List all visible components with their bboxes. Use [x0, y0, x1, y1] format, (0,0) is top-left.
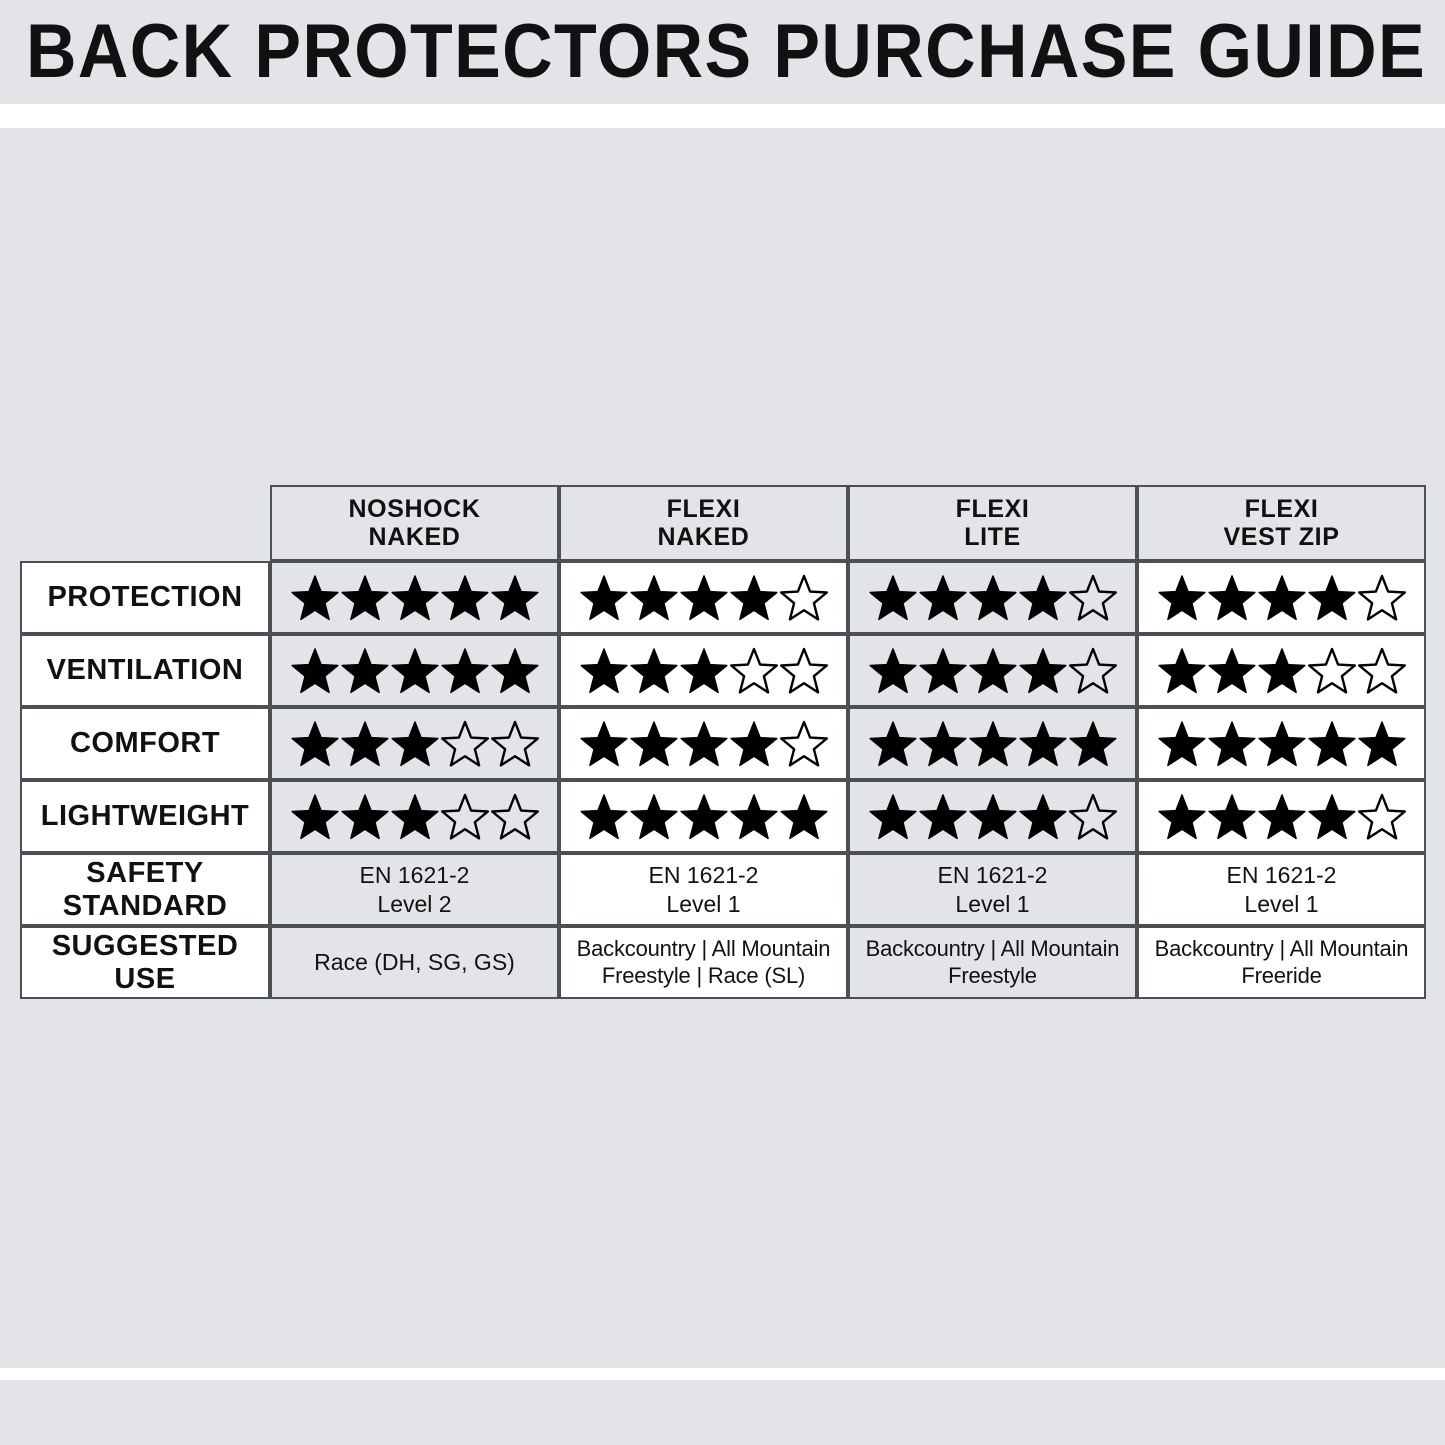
- star-empty-icon: [1308, 647, 1356, 694]
- star-filled-icon: [580, 647, 628, 694]
- cell-text: EN 1621-2Level 1: [1139, 857, 1424, 921]
- cell-safety-standard-flexi-vest-zip: EN 1621-2Level 1: [1137, 853, 1426, 926]
- table-row: SAFETY STANDARDEN 1621-2Level 2EN 1621-2…: [20, 853, 1426, 926]
- column-header-noshock-naked: NOSHOCK NAKED: [270, 485, 559, 561]
- star-filled-icon: [1208, 574, 1256, 621]
- cell-text-line2: Freestyle: [856, 963, 1129, 990]
- star-filled-icon: [341, 574, 389, 621]
- star-empty-icon: [1358, 647, 1406, 694]
- cell-text: Race (DH, SG, GS): [272, 944, 557, 980]
- back-protectors-comparison-table: NOSHOCK NAKED FLEXI NAKED FLEXI LITE FLE…: [20, 485, 1426, 999]
- star-filled-icon: [630, 647, 678, 694]
- cell-text-line2: Level 1: [567, 890, 840, 918]
- star-rating: [850, 574, 1135, 621]
- cell-text-line2: Level 1: [1145, 890, 1418, 918]
- cell-text-line1: Backcountry | All Mountain: [1145, 936, 1418, 963]
- star-filled-icon: [969, 574, 1017, 621]
- star-empty-icon: [780, 574, 828, 621]
- table-row: VENTILATION: [20, 634, 1426, 707]
- star-filled-icon: [730, 793, 778, 840]
- star-filled-icon: [1208, 647, 1256, 694]
- star-filled-icon: [580, 720, 628, 767]
- cell-suggested-use-flexi-lite: Backcountry | All MountainFreestyle: [848, 926, 1137, 999]
- star-rating: [850, 720, 1135, 767]
- star-filled-icon: [680, 720, 728, 767]
- star-filled-icon: [780, 793, 828, 840]
- cell-text: EN 1621-2Level 1: [561, 857, 846, 921]
- star-empty-icon: [780, 720, 828, 767]
- star-empty-icon: [1358, 574, 1406, 621]
- cell-protection-noshock-naked: [270, 561, 559, 634]
- star-filled-icon: [1258, 793, 1306, 840]
- star-filled-icon: [341, 647, 389, 694]
- cell-protection-flexi-lite: [848, 561, 1137, 634]
- star-filled-icon: [630, 720, 678, 767]
- page-title: BACK PROTECTORS PURCHASE GUIDE: [26, 14, 1426, 90]
- table-corner-blank: [20, 485, 270, 561]
- star-filled-icon: [1019, 574, 1067, 621]
- star-filled-icon: [1258, 720, 1306, 767]
- star-filled-icon: [680, 793, 728, 840]
- star-filled-icon: [1258, 574, 1306, 621]
- cell-suggested-use-noshock-naked: Race (DH, SG, GS): [270, 926, 559, 999]
- cell-text-line2: Freestyle | Race (SL): [567, 963, 840, 990]
- star-filled-icon: [969, 793, 1017, 840]
- row-label-lightweight: LIGHTWEIGHT: [20, 780, 270, 853]
- star-filled-icon: [680, 574, 728, 621]
- star-rating: [1139, 720, 1424, 767]
- star-rating: [561, 574, 846, 621]
- column-header-line1: FLEXI: [1139, 495, 1424, 523]
- cell-text-line1: EN 1621-2: [856, 861, 1129, 889]
- star-empty-icon: [1069, 647, 1117, 694]
- star-filled-icon: [1308, 574, 1356, 621]
- cell-text-line1: Race (DH, SG, GS): [278, 948, 551, 976]
- cell-lightweight-flexi-vest-zip: [1137, 780, 1426, 853]
- star-filled-icon: [730, 720, 778, 767]
- cell-text-line2: Level 2: [278, 890, 551, 918]
- star-filled-icon: [919, 793, 967, 840]
- star-filled-icon: [869, 720, 917, 767]
- star-empty-icon: [1069, 793, 1117, 840]
- star-filled-icon: [1158, 720, 1206, 767]
- star-filled-icon: [341, 720, 389, 767]
- star-filled-icon: [291, 720, 339, 767]
- star-filled-icon: [491, 647, 539, 694]
- star-filled-icon: [969, 720, 1017, 767]
- star-rating: [272, 647, 557, 694]
- cell-comfort-flexi-naked: [559, 707, 848, 780]
- decorative-band-bottom: [0, 1368, 1445, 1380]
- cell-ventilation-flexi-naked: [559, 634, 848, 707]
- column-header-line2: LITE: [850, 523, 1135, 551]
- cell-text: Backcountry | All MountainFreeride: [1139, 932, 1424, 994]
- table-row: PROTECTION: [20, 561, 1426, 634]
- star-rating: [561, 720, 846, 767]
- cell-text: EN 1621-2Level 1: [850, 857, 1135, 921]
- cell-text-line1: EN 1621-2: [567, 861, 840, 889]
- star-rating: [272, 720, 557, 767]
- cell-text: EN 1621-2Level 2: [272, 857, 557, 921]
- star-filled-icon: [1158, 647, 1206, 694]
- cell-safety-standard-flexi-naked: EN 1621-2Level 1: [559, 853, 848, 926]
- cell-ventilation-flexi-lite: [848, 634, 1137, 707]
- star-rating: [1139, 574, 1424, 621]
- table-row: SUGGESTED USERace (DH, SG, GS)Backcountr…: [20, 926, 1426, 999]
- star-empty-icon: [730, 647, 778, 694]
- table-row: COMFORT: [20, 707, 1426, 780]
- star-filled-icon: [730, 574, 778, 621]
- row-label-suggested-use: SUGGESTED USE: [20, 926, 270, 999]
- cell-text-line1: Backcountry | All Mountain: [567, 936, 840, 963]
- star-filled-icon: [630, 793, 678, 840]
- star-filled-icon: [1308, 720, 1356, 767]
- star-filled-icon: [1308, 793, 1356, 840]
- star-filled-icon: [1208, 720, 1256, 767]
- star-filled-icon: [1158, 574, 1206, 621]
- column-header-line1: NOSHOCK: [272, 495, 557, 523]
- star-filled-icon: [1019, 793, 1067, 840]
- column-header-flexi-lite: FLEXI LITE: [848, 485, 1137, 561]
- row-label-comfort: COMFORT: [20, 707, 270, 780]
- star-filled-icon: [491, 574, 539, 621]
- star-filled-icon: [391, 720, 439, 767]
- cell-safety-standard-noshock-naked: EN 1621-2Level 2: [270, 853, 559, 926]
- star-filled-icon: [869, 647, 917, 694]
- star-empty-icon: [441, 793, 489, 840]
- row-label-protection: PROTECTION: [20, 561, 270, 634]
- column-header-line2: VEST ZIP: [1139, 523, 1424, 551]
- row-label-safety-standard: SAFETY STANDARD: [20, 853, 270, 926]
- cell-text: Backcountry | All MountainFreestyle | Ra…: [561, 932, 846, 994]
- column-header-line2: NAKED: [272, 523, 557, 551]
- star-empty-icon: [491, 793, 539, 840]
- star-filled-icon: [1258, 647, 1306, 694]
- column-header-line1: FLEXI: [561, 495, 846, 523]
- cell-protection-flexi-vest-zip: [1137, 561, 1426, 634]
- star-filled-icon: [391, 647, 439, 694]
- cell-protection-flexi-naked: [559, 561, 848, 634]
- star-rating: [850, 793, 1135, 840]
- cell-comfort-flexi-lite: [848, 707, 1137, 780]
- cell-lightweight-flexi-lite: [848, 780, 1137, 853]
- column-header-flexi-vest-zip: FLEXI VEST ZIP: [1137, 485, 1426, 561]
- star-empty-icon: [441, 720, 489, 767]
- star-filled-icon: [441, 574, 489, 621]
- star-filled-icon: [1208, 793, 1256, 840]
- star-rating: [272, 574, 557, 621]
- star-filled-icon: [580, 574, 628, 621]
- cell-suggested-use-flexi-vest-zip: Backcountry | All MountainFreeride: [1137, 926, 1426, 999]
- star-filled-icon: [391, 793, 439, 840]
- cell-text-line1: EN 1621-2: [278, 861, 551, 889]
- star-filled-icon: [630, 574, 678, 621]
- column-header-flexi-naked: FLEXI NAKED: [559, 485, 848, 561]
- star-empty-icon: [491, 720, 539, 767]
- cell-text-line2: Level 1: [856, 890, 1129, 918]
- star-filled-icon: [341, 793, 389, 840]
- page-header: BACK PROTECTORS PURCHASE GUIDE: [0, 0, 1445, 104]
- star-filled-icon: [580, 793, 628, 840]
- cell-comfort-flexi-vest-zip: [1137, 707, 1426, 780]
- star-empty-icon: [1069, 574, 1117, 621]
- cell-ventilation-flexi-vest-zip: [1137, 634, 1426, 707]
- cell-safety-standard-flexi-lite: EN 1621-2Level 1: [848, 853, 1137, 926]
- comparison-table-container: NOSHOCK NAKED FLEXI NAKED FLEXI LITE FLE…: [20, 485, 1426, 999]
- table-head: NOSHOCK NAKED FLEXI NAKED FLEXI LITE FLE…: [20, 485, 1426, 561]
- cell-lightweight-noshock-naked: [270, 780, 559, 853]
- table-body: PROTECTIONVENTILATIONCOMFORTLIGHTWEIGHTS…: [20, 561, 1426, 999]
- star-filled-icon: [1158, 793, 1206, 840]
- star-filled-icon: [391, 574, 439, 621]
- column-header-line2: NAKED: [561, 523, 846, 551]
- table-row: LIGHTWEIGHT: [20, 780, 1426, 853]
- star-filled-icon: [869, 793, 917, 840]
- star-filled-icon: [441, 647, 489, 694]
- star-filled-icon: [1019, 720, 1067, 767]
- star-filled-icon: [1019, 647, 1067, 694]
- cell-lightweight-flexi-naked: [559, 780, 848, 853]
- star-filled-icon: [1358, 720, 1406, 767]
- star-empty-icon: [780, 647, 828, 694]
- cell-comfort-noshock-naked: [270, 707, 559, 780]
- star-empty-icon: [1358, 793, 1406, 840]
- row-label-ventilation: VENTILATION: [20, 634, 270, 707]
- cell-text-line2: Freeride: [1145, 963, 1418, 990]
- cell-text-line1: EN 1621-2: [1145, 861, 1418, 889]
- star-rating: [850, 647, 1135, 694]
- cell-text-line1: Backcountry | All Mountain: [856, 936, 1129, 963]
- table-header-row: NOSHOCK NAKED FLEXI NAKED FLEXI LITE FLE…: [20, 485, 1426, 561]
- star-filled-icon: [919, 574, 967, 621]
- star-filled-icon: [1069, 720, 1117, 767]
- star-rating: [1139, 647, 1424, 694]
- star-rating: [561, 647, 846, 694]
- star-filled-icon: [919, 720, 967, 767]
- star-rating: [1139, 793, 1424, 840]
- column-header-line1: FLEXI: [850, 495, 1135, 523]
- cell-text: Backcountry | All MountainFreestyle: [850, 932, 1135, 994]
- star-filled-icon: [291, 647, 339, 694]
- star-rating: [561, 793, 846, 840]
- star-filled-icon: [869, 574, 917, 621]
- star-rating: [272, 793, 557, 840]
- star-filled-icon: [291, 793, 339, 840]
- star-filled-icon: [919, 647, 967, 694]
- star-filled-icon: [291, 574, 339, 621]
- cell-ventilation-noshock-naked: [270, 634, 559, 707]
- star-filled-icon: [969, 647, 1017, 694]
- decorative-band-top: [0, 104, 1445, 128]
- star-filled-icon: [680, 647, 728, 694]
- cell-suggested-use-flexi-naked: Backcountry | All MountainFreestyle | Ra…: [559, 926, 848, 999]
